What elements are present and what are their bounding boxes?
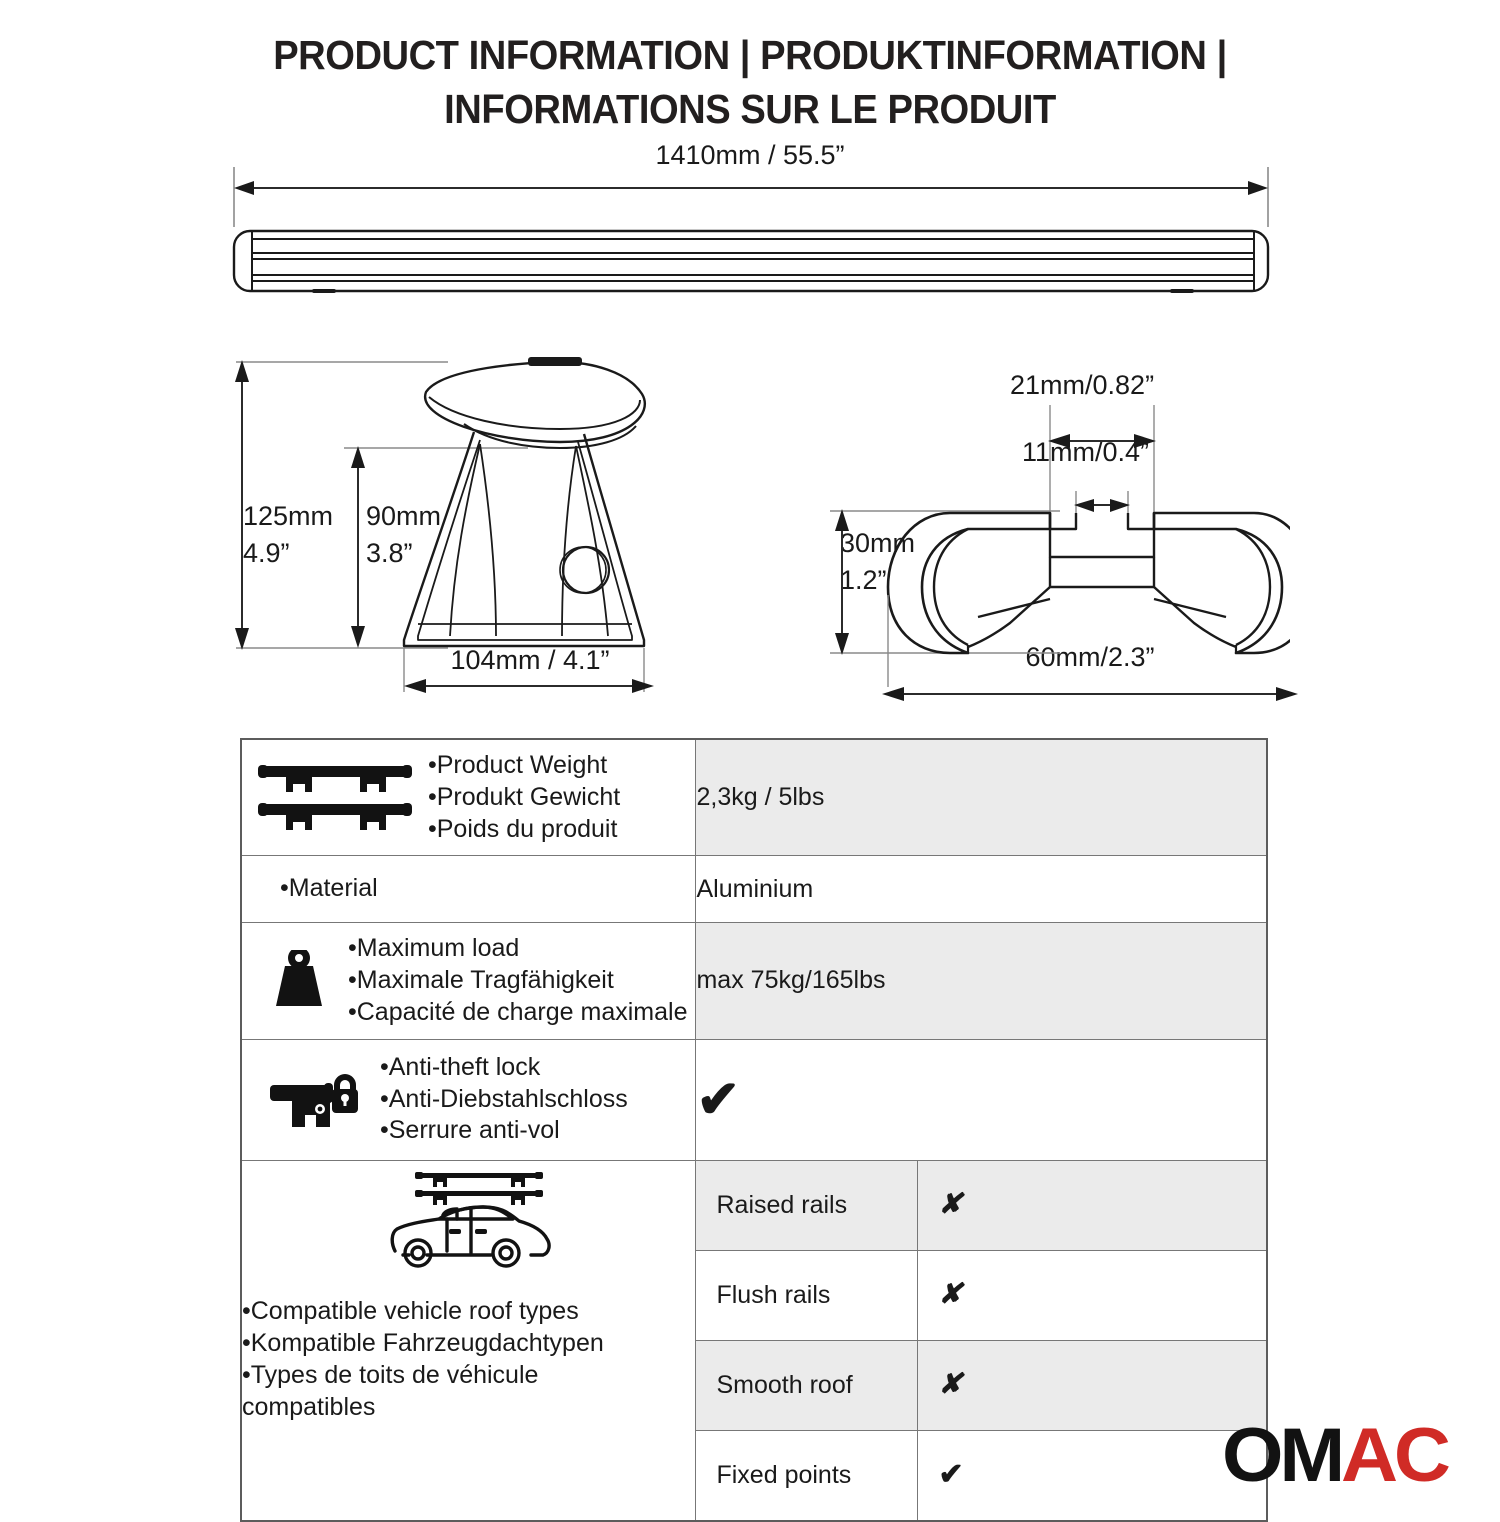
table-row: •Material Aluminium: [241, 856, 1267, 923]
label-line: •Produkt Gewicht: [428, 782, 620, 814]
foot-width-dimension: [404, 672, 654, 702]
lock-value: ✔: [696, 1039, 1267, 1160]
lock-labels: •Anti-theft lock •Anti-Diebstahlschloss …: [380, 1052, 628, 1147]
lock-label-cell: •Anti-theft lock •Anti-Diebstahlschloss …: [241, 1039, 696, 1160]
roof-type-mark: ✔: [918, 1430, 1266, 1520]
roof-type-mark: ✘: [918, 1250, 1266, 1340]
profile-width-dimension: [880, 680, 1300, 710]
table-row: •Compatible vehicle roof types •Kompatib…: [241, 1160, 1267, 1521]
cross-icon: ✘: [938, 1189, 961, 1220]
roof-type-mark: ✘: [918, 1340, 1266, 1430]
label-line: •Poids du produit: [428, 814, 620, 846]
roof-type-label: Raised rails: [696, 1161, 918, 1251]
logo-text-black: OM: [1222, 1413, 1341, 1498]
maxload-label-cell: •Maximum load •Maximale Tragfähigkeit •C…: [241, 923, 696, 1039]
roof-type-label: Smooth roof: [696, 1340, 918, 1430]
maxload-labels: •Maximum load •Maximale Tragfähigkeit •C…: [348, 933, 687, 1028]
roof-type-mark: ✘: [918, 1161, 1266, 1251]
label-line: •Kompatible Fahrzeugdachtypen: [242, 1327, 695, 1359]
check-icon: ✔: [696, 1071, 740, 1129]
crossbars-icon: [256, 760, 414, 836]
table-row: •Maximum load •Maximale Tragfähigkeit •C…: [241, 923, 1267, 1039]
label-line: •Capacité de charge maximale: [348, 997, 687, 1029]
roof-type-label: Fixed points: [696, 1430, 918, 1520]
foot-total-height-label: 125mm 4.9”: [243, 498, 333, 572]
roof-types-cell: Raised rails ✘ Flush rails ✘: [696, 1160, 1267, 1521]
roof-type-row: Smooth roof ✘: [696, 1340, 1266, 1430]
roof-type-row: Raised rails ✘: [696, 1161, 1266, 1251]
table-row: •Anti-theft lock •Anti-Diebstahlschloss …: [241, 1039, 1267, 1160]
omac-logo: OMAC: [1222, 1418, 1447, 1494]
label-line: •Anti-Diebstahlschloss: [380, 1084, 628, 1116]
label-line: •Material: [280, 873, 378, 905]
product-information-sheet: PRODUCT INFORMATION | PRODUKTINFORMATION…: [0, 0, 1500, 1500]
page-title: PRODUCT INFORMATION | PRODUKTINFORMATION…: [53, 28, 1448, 136]
label-line: compatibles: [242, 1391, 695, 1423]
compat-labels: •Compatible vehicle roof types •Kompatib…: [242, 1295, 695, 1423]
bar-cross-section-drawing: [810, 395, 1290, 695]
title-line-1: PRODUCT INFORMATION | PRODUKTINFORMATION…: [273, 32, 1227, 78]
material-value: Aluminium: [696, 856, 1267, 923]
spec-table: •Product Weight •Produkt Gewicht •Poids …: [240, 738, 1268, 1522]
label-line: •Anti-theft lock: [380, 1052, 628, 1084]
roof-type-label: Flush rails: [696, 1250, 918, 1340]
maxload-value: max 75kg/165lbs: [696, 923, 1267, 1039]
cross-icon: ✘: [938, 1369, 961, 1400]
label-line: •Maximum load: [348, 933, 687, 965]
cross-icon: ✘: [938, 1279, 961, 1310]
foot-width-label: 104mm / 4.1”: [400, 645, 660, 676]
material-label-cell: •Material: [241, 856, 696, 923]
logo-text-red: AC: [1341, 1413, 1447, 1498]
table-row: •Product Weight •Produkt Gewicht •Poids …: [241, 739, 1267, 856]
compat-label-cell: •Compatible vehicle roof types •Kompatib…: [241, 1160, 696, 1521]
label-line: •Serrure anti-vol: [380, 1115, 628, 1147]
label-line: •Maximale Tragfähigkeit: [348, 965, 687, 997]
lock-icon: [268, 1069, 360, 1131]
weight-label-cell: •Product Weight •Produkt Gewicht •Poids …: [241, 739, 696, 856]
foot-inner-height-label: 90mm 3.8”: [366, 498, 441, 572]
weight-value: 2,3kg / 5lbs: [696, 739, 1267, 856]
title-line-2: INFORMATIONS SUR LE PRODUIT: [53, 82, 1448, 136]
label-line: •Product Weight: [428, 750, 620, 782]
weight-icon: [268, 950, 330, 1012]
check-icon: ✔: [938, 1458, 963, 1491]
label-line: •Compatible vehicle roof types: [242, 1295, 695, 1327]
weight-labels: •Product Weight •Produkt Gewicht •Poids …: [428, 750, 620, 845]
label-line: •Types de toits de véhicule: [242, 1359, 695, 1391]
car-with-roofrack-icon: [242, 1169, 695, 1279]
roof-types-table: Raised rails ✘ Flush rails ✘: [696, 1161, 1266, 1520]
roof-type-row: Fixed points ✔: [696, 1430, 1266, 1520]
crossbar-length-drawing: [228, 165, 1274, 305]
roof-type-row: Flush rails ✘: [696, 1250, 1266, 1340]
